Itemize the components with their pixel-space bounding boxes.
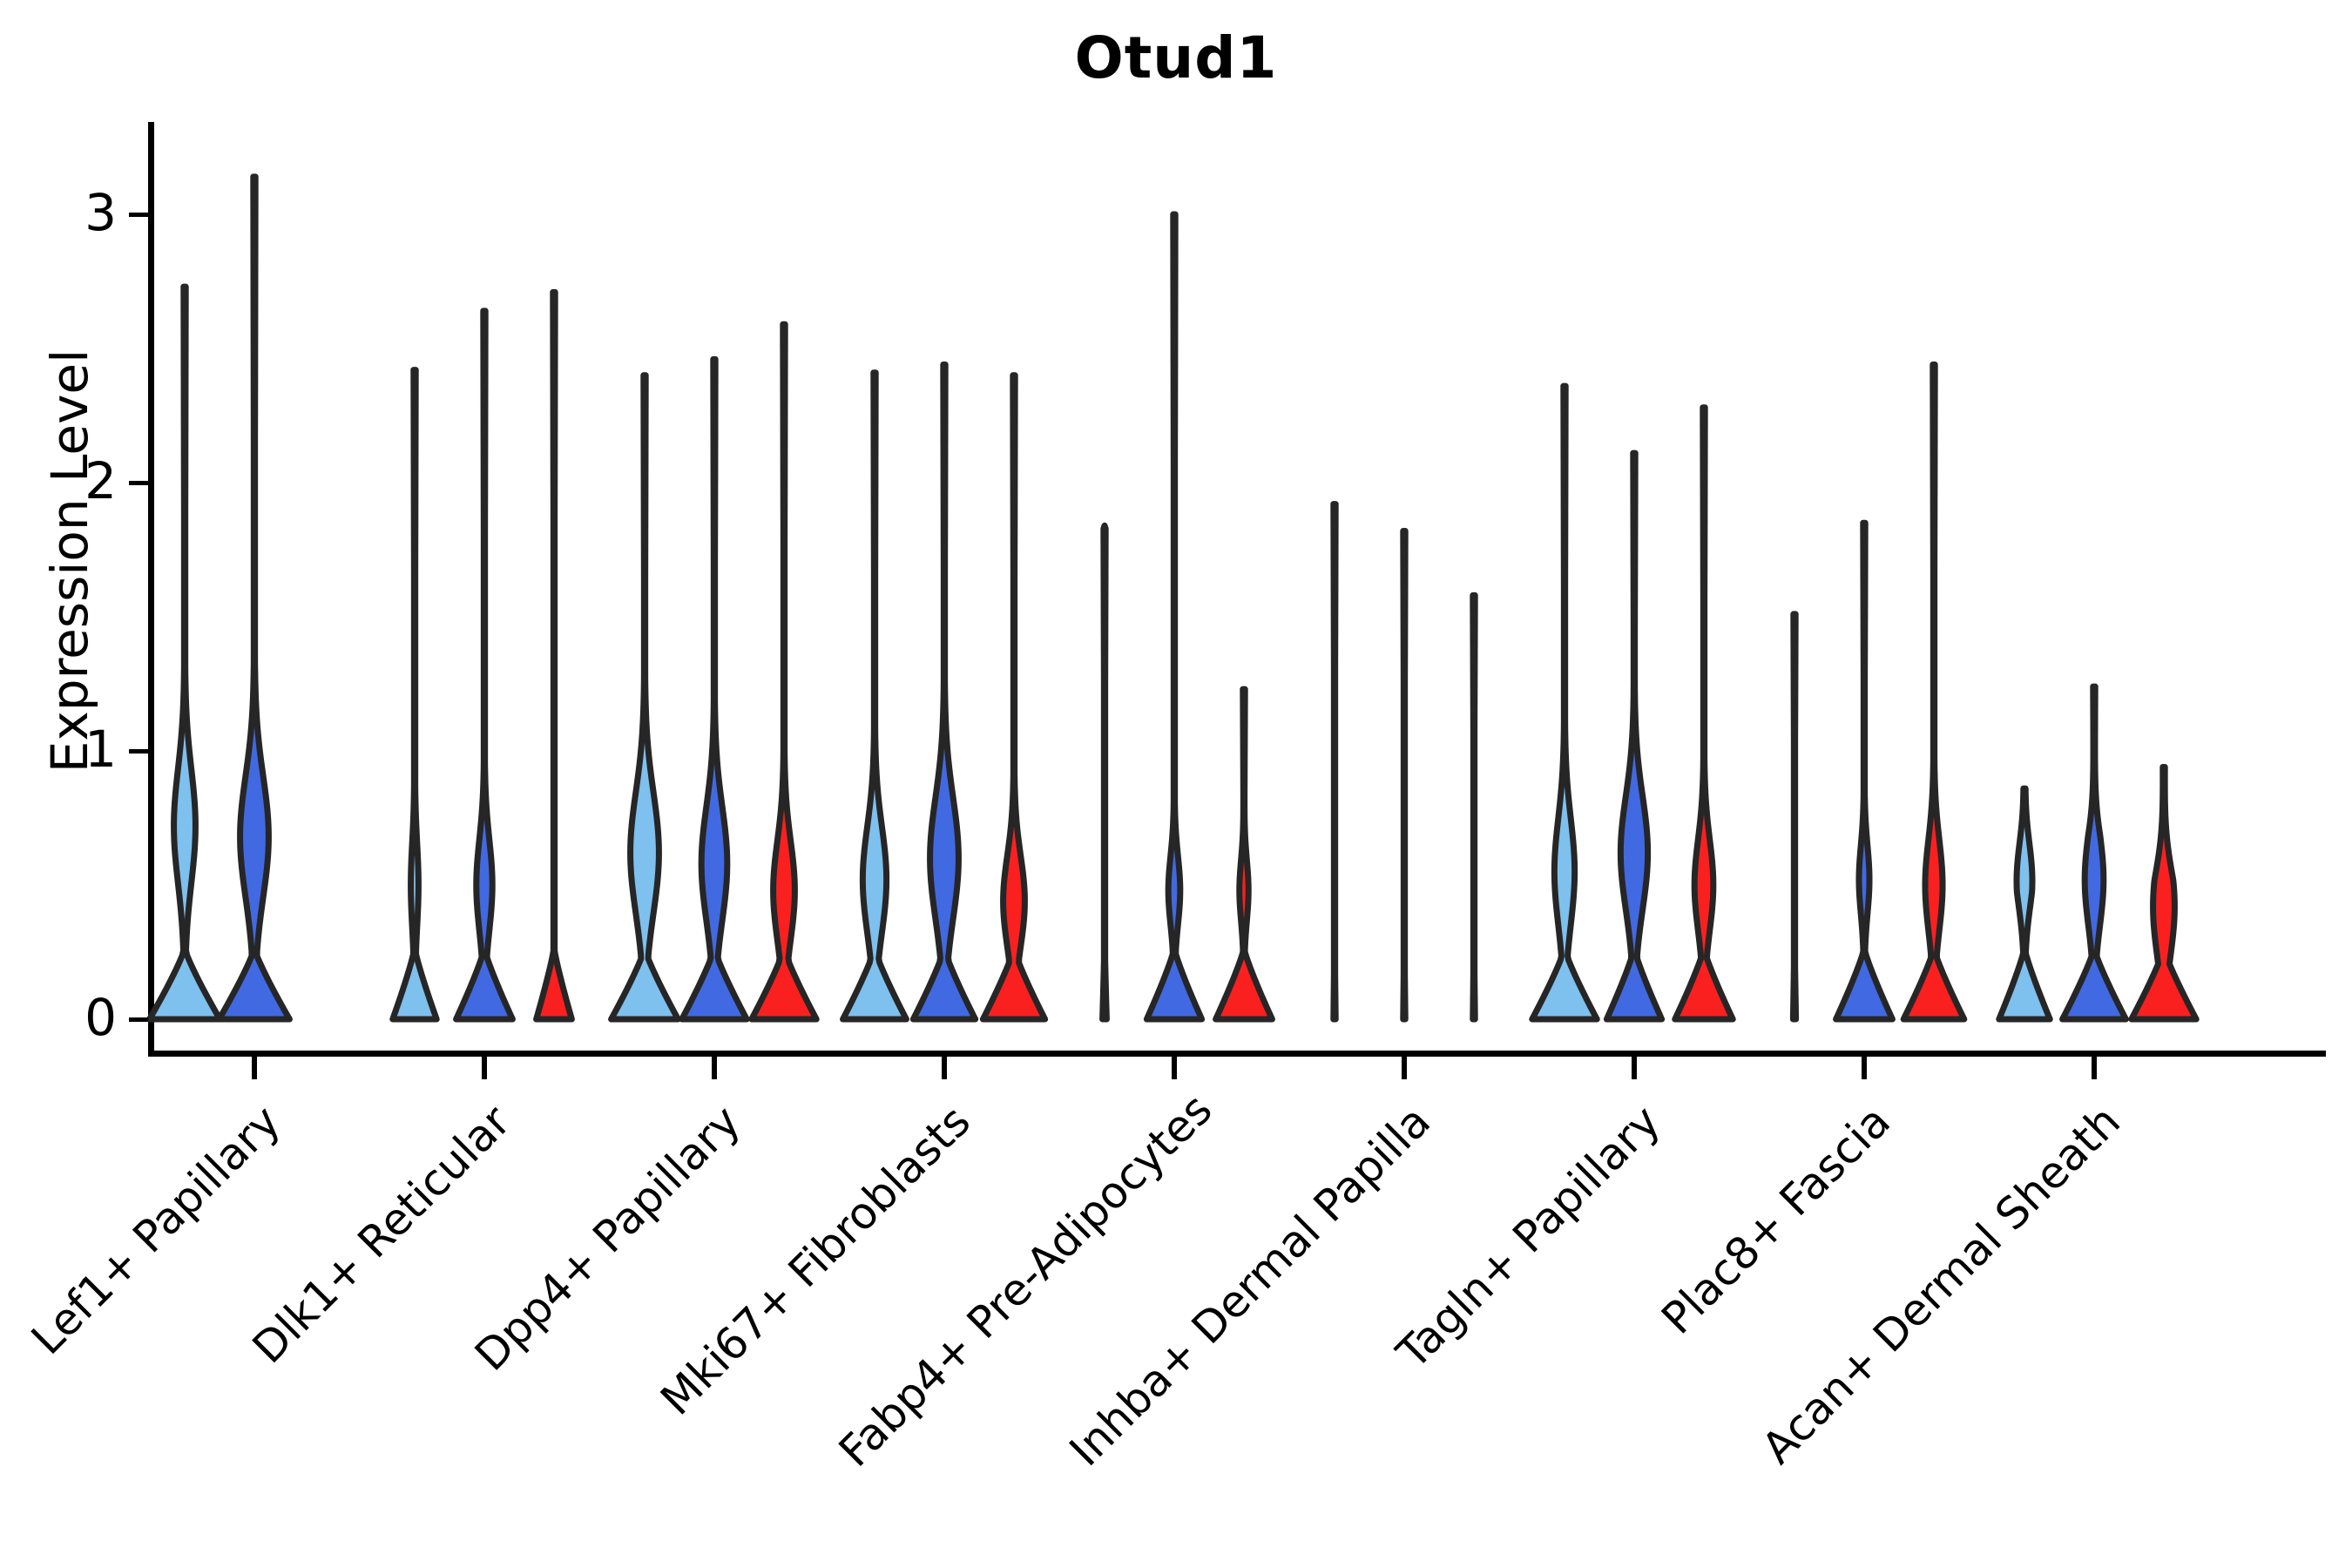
violin-light-blue-2 <box>612 375 679 1019</box>
violin-medium-blue-6 <box>1606 453 1661 1019</box>
y-tick-label-0: 0 <box>12 988 117 1047</box>
violin-medium-blue-7 <box>1836 523 1893 1019</box>
violin-light-blue-5 <box>1334 504 1335 1019</box>
violin-red-2 <box>752 324 816 1019</box>
y-tick-label-1: 1 <box>12 720 117 779</box>
x-tick-mark-5 <box>1402 1057 1407 1079</box>
y-tick-mark-3 <box>129 213 148 217</box>
violin-light-blue-8 <box>1999 788 2050 1019</box>
y-tick-mark-2 <box>129 481 148 485</box>
violin-light-blue-3 <box>843 373 907 1019</box>
y-tick-label-2: 2 <box>12 451 117 510</box>
x-tick-mark-0 <box>252 1057 257 1079</box>
violin-red-5 <box>1473 595 1475 1019</box>
violin-medium-blue-3 <box>913 364 975 1019</box>
violin-light-blue-0 <box>150 287 220 1019</box>
violin-medium-blue-1 <box>456 311 513 1019</box>
violin-medium-blue-4 <box>1146 214 1201 1019</box>
violin-red-8 <box>2132 767 2196 1019</box>
violin-medium-blue-2 <box>682 359 747 1019</box>
x-tick-mark-3 <box>942 1057 947 1079</box>
violin-medium-blue-0 <box>220 177 290 1019</box>
y-tick-label-3: 3 <box>12 183 117 242</box>
violin-light-blue-7 <box>1793 614 1795 1019</box>
violin-red-3 <box>983 375 1044 1019</box>
violin-red-1 <box>537 292 572 1019</box>
y-tick-mark-1 <box>129 749 148 754</box>
x-tick-mark-1 <box>482 1057 487 1079</box>
violin-medium-blue-8 <box>2063 686 2126 1019</box>
x-tick-mark-6 <box>1632 1057 1637 1079</box>
violin-light-blue-4 <box>1103 525 1107 1019</box>
x-tick-mark-8 <box>2092 1057 2097 1079</box>
violin-plot-figure: Otud1 Expression Level 0123 Lef1+ Papill… <box>0 0 2352 1568</box>
violin-medium-blue-5 <box>1403 531 1405 1019</box>
violin-red-6 <box>1675 408 1733 1019</box>
violin-red-7 <box>1903 364 1964 1019</box>
violin-light-blue-6 <box>1532 386 1597 1019</box>
y-tick-mark-0 <box>129 1017 148 1022</box>
x-tick-mark-2 <box>712 1057 717 1079</box>
violin-light-blue-1 <box>393 370 436 1019</box>
x-tick-mark-4 <box>1172 1057 1177 1079</box>
violin-red-4 <box>1216 689 1273 1019</box>
x-tick-mark-7 <box>1862 1057 1867 1079</box>
